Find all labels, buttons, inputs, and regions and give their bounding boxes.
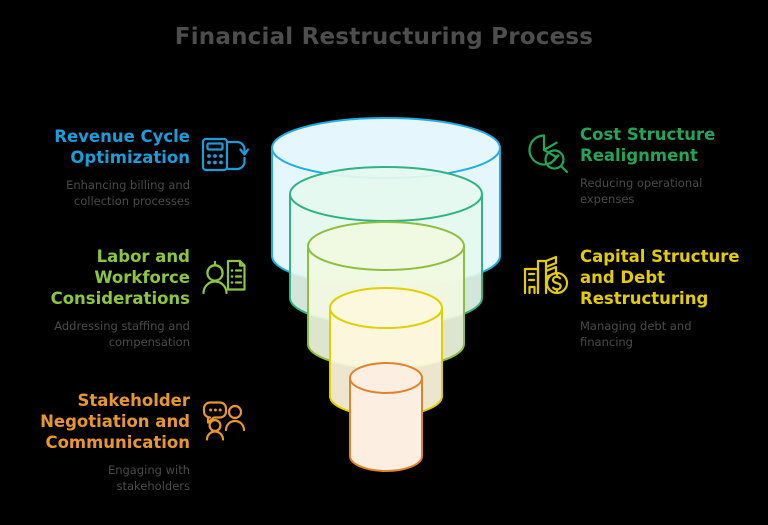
calculator-cycle-icon <box>198 128 250 180</box>
item-labor-workforce-considerations[interactable]: Labor and Workforce Considerations Addre… <box>24 246 250 350</box>
worker-clipboard-icon <box>198 248 250 300</box>
item-stakeholder-negotiation-communication[interactable]: Stakeholder Negotiation and Communicatio… <box>24 390 250 494</box>
item-subtext: Reducing operational expenses <box>580 175 702 207</box>
item-heading: Stakeholder Negotiation and Communicatio… <box>40 390 190 453</box>
item-capital-structure-debt-restructuring[interactable]: Capital Structure and Debt Restructuring… <box>520 246 750 350</box>
building-dollar-icon <box>520 248 572 300</box>
speech-people-icon <box>198 392 250 444</box>
item-subtext: Engaging with stakeholders <box>108 462 190 494</box>
item-subtext: Managing debt and financing <box>580 318 692 350</box>
item-heading: Capital Structure and Debt Restructuring <box>580 246 740 309</box>
infographic-canvas: Financial Restructuring Process Revenue … <box>0 0 768 525</box>
page-title: Financial Restructuring Process <box>0 24 768 50</box>
pie-magnifier-icon <box>520 126 572 178</box>
item-revenue-cycle-optimization[interactable]: Revenue Cycle Optimization Enhancing bil… <box>24 126 250 209</box>
item-cost-structure-realignment[interactable]: Cost Structure Realignment Reducing oper… <box>520 124 750 207</box>
funnel-layer-5 <box>350 363 422 471</box>
item-subtext: Addressing staffing and compensation <box>54 318 190 350</box>
item-subtext: Enhancing billing and collection process… <box>66 177 190 209</box>
item-heading: Revenue Cycle Optimization <box>54 126 190 168</box>
item-heading: Cost Structure Realignment <box>580 124 715 166</box>
layered-funnel-diagram <box>252 106 520 486</box>
item-heading: Labor and Workforce Considerations <box>51 246 190 309</box>
